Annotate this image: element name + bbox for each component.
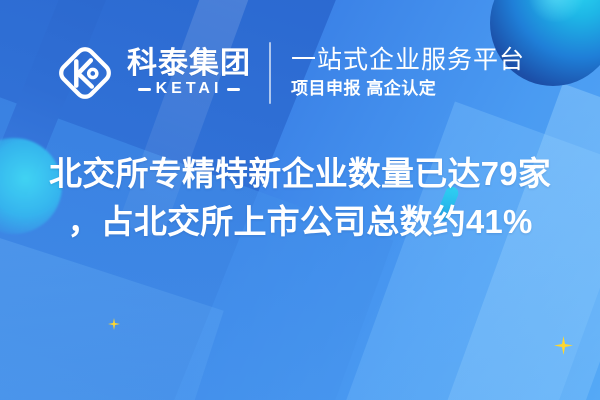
headline-line-2: ，占北交所上市公司总数约41%	[28, 198, 572, 246]
dash-left-icon	[138, 88, 151, 91]
dash-right-icon	[227, 88, 240, 91]
promo-banner: 科泰集团 KETAI 一站式企业服务平台 项目申报 高企认定 北交所专精特新企业…	[0, 0, 600, 400]
brand-name-cn: 科泰集团	[127, 49, 251, 80]
brand-header: 科泰集团 KETAI 一站式企业服务平台 项目申报 高企认定	[0, 34, 600, 112]
sparkle-star-icon-right	[554, 336, 573, 355]
brand-name-en-row: KETAI	[127, 81, 251, 97]
sparkle-star-icon-left	[108, 318, 120, 330]
ketai-diamond-k-logo-icon	[54, 42, 116, 104]
tagline-sub: 项目申报 高企认定	[291, 78, 525, 100]
diagonal-wedge-right	[277, 101, 600, 400]
tagline-main: 一站式企业服务平台	[291, 46, 525, 75]
header-divider	[269, 42, 271, 104]
sphere-highlight	[526, 0, 586, 22]
tagline-block: 一站式企业服务平台 项目申报 高企认定	[291, 46, 525, 101]
brand-name-en: KETAI	[156, 81, 223, 97]
brand-wordmark: 科泰集团 KETAI	[127, 49, 251, 98]
diagonal-wedge-mid	[0, 97, 393, 400]
headline: 北交所专精特新企业数量已达79家 ，占北交所上市公司总数约41%	[0, 150, 600, 246]
brand-logo[interactable]: 科泰集团 KETAI	[54, 42, 251, 104]
headline-line-1: 北交所专精特新企业数量已达79家	[28, 150, 572, 198]
